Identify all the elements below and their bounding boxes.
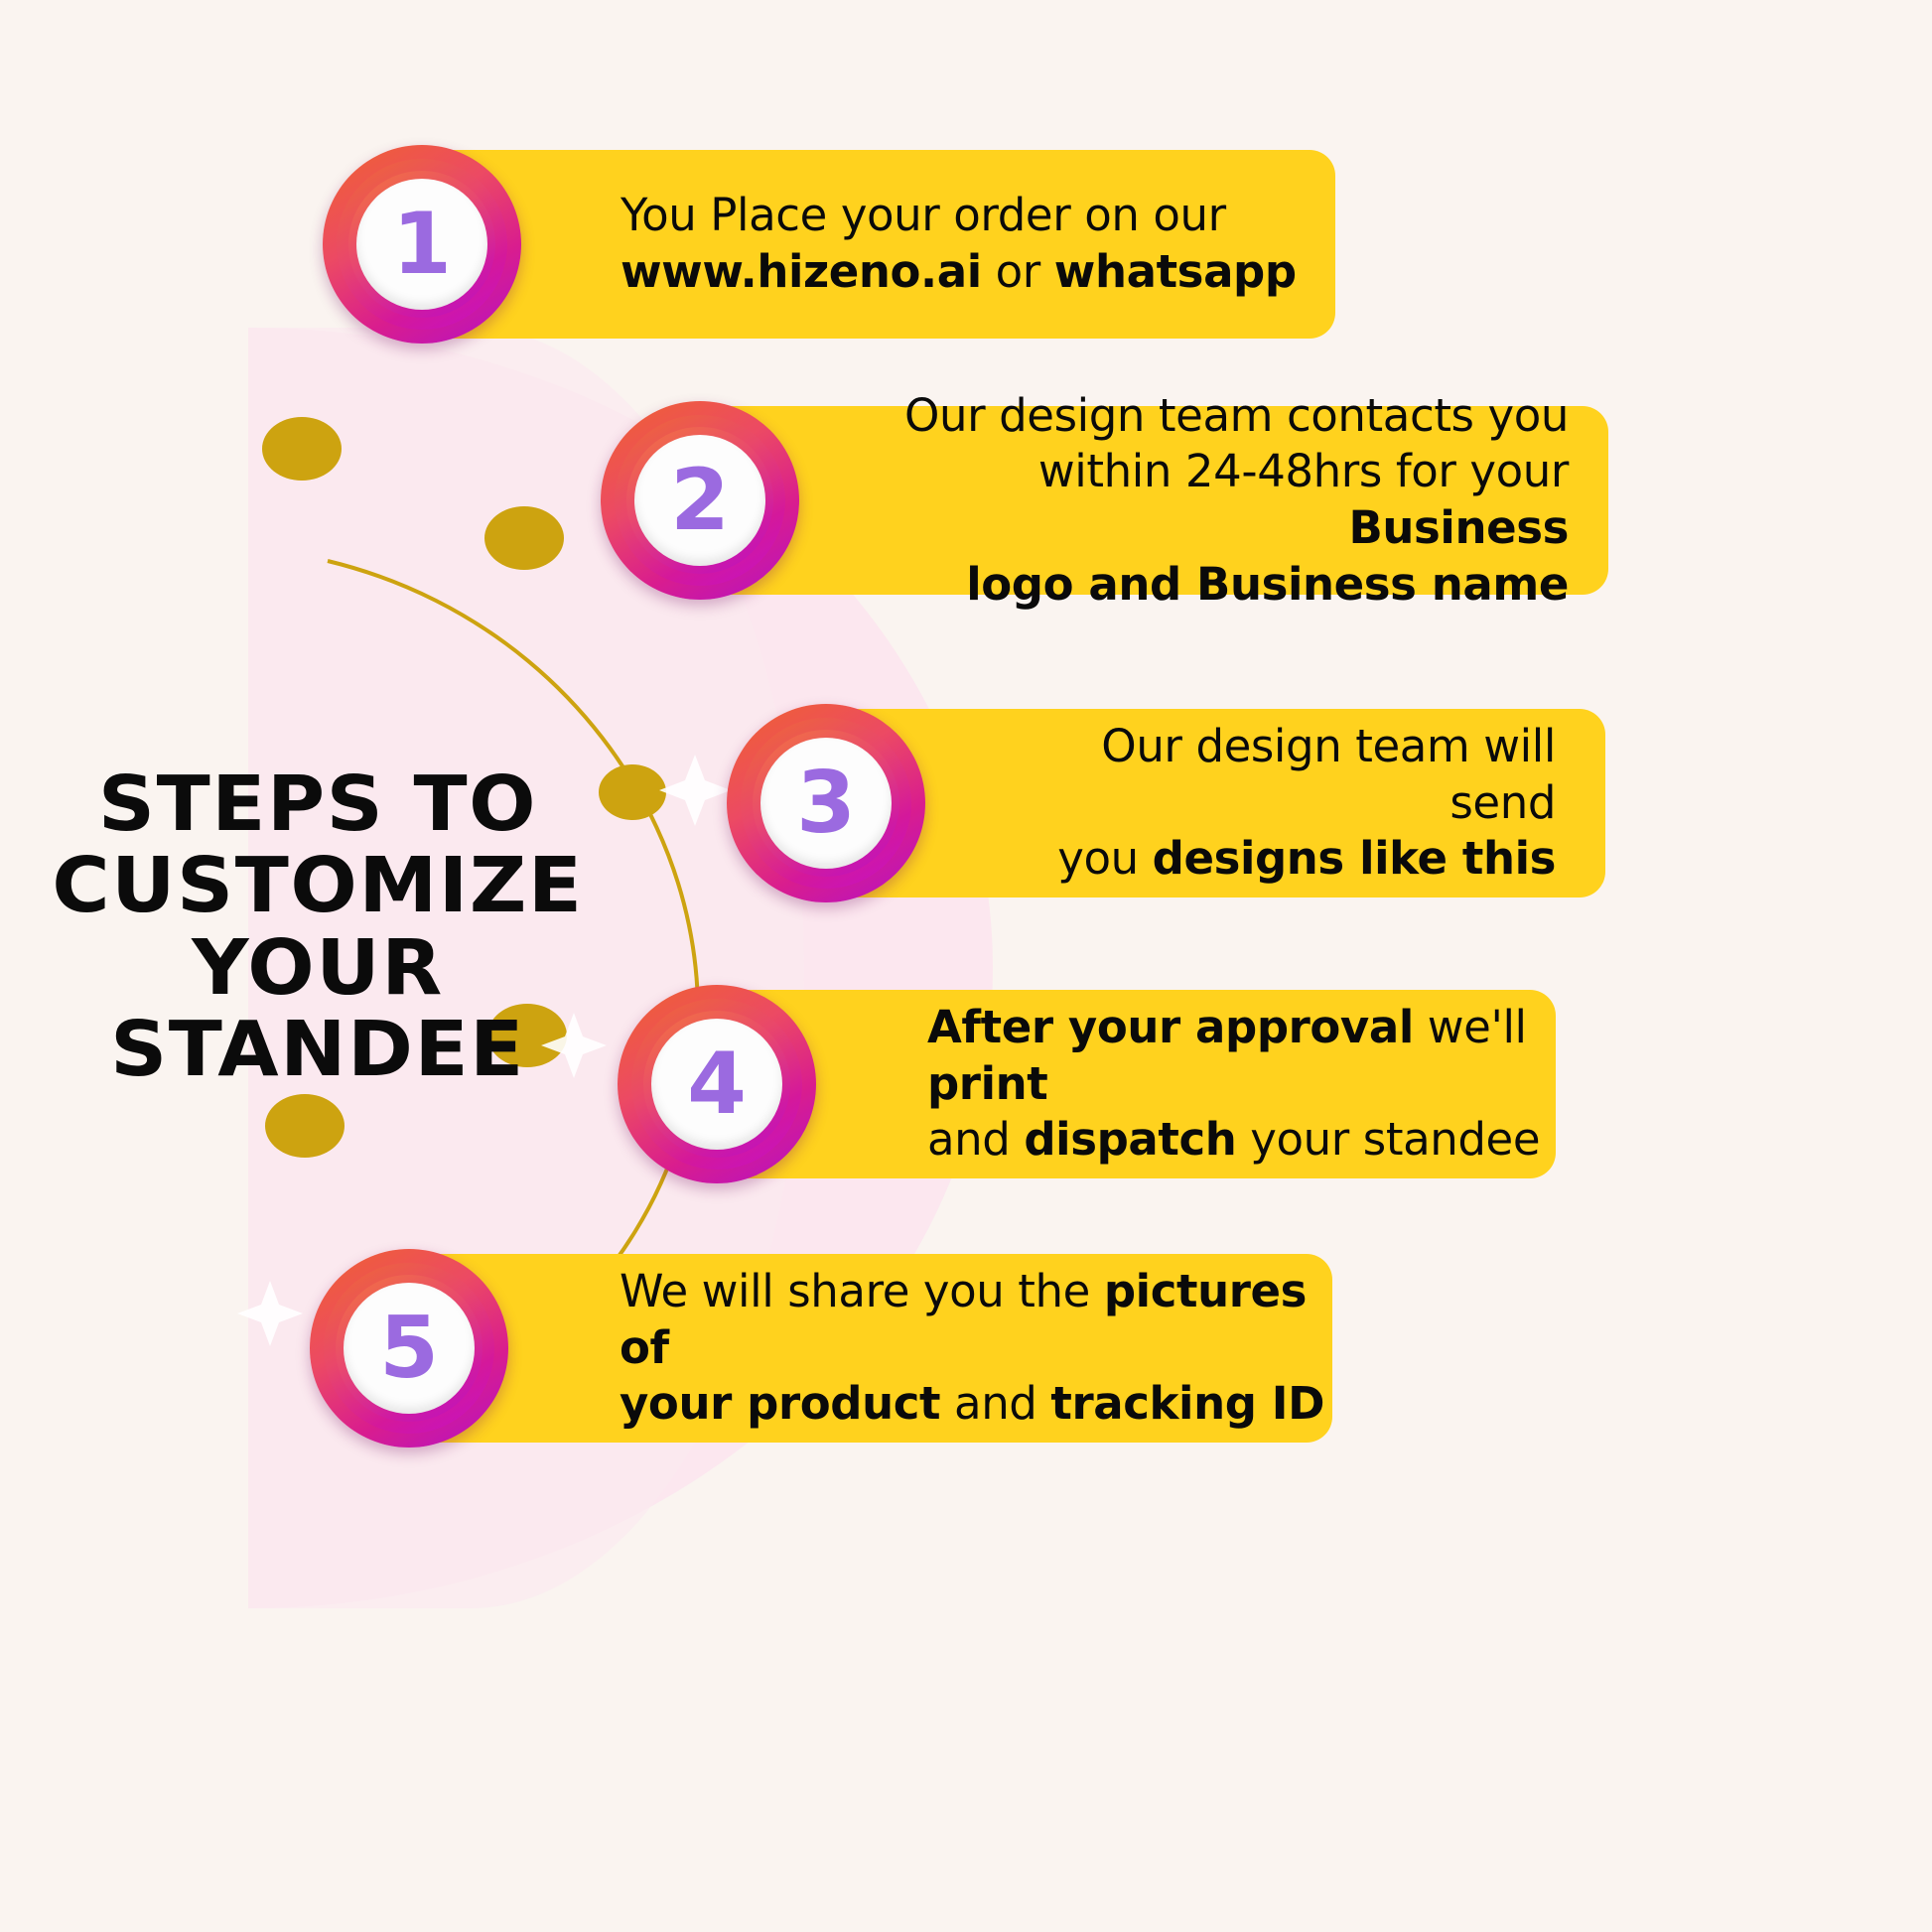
step-badge-1: 1 (323, 145, 521, 344)
page-title: STEPS TO CUSTOMIZE YOUR STANDEE (52, 764, 584, 1092)
step5-bold-tracking: tracking ID (1050, 1377, 1324, 1430)
step4-bold-print: print (927, 1057, 1047, 1110)
step4-bold-dispatch: dispatch (1024, 1113, 1236, 1166)
step1-bold-url: www.hizeno.ai (621, 245, 982, 298)
step-badge-5: 5 (310, 1249, 508, 1448)
step-item-1: 1 You Place your order on our www.hizeno… (323, 145, 1335, 344)
step-number-3: 3 (796, 760, 856, 846)
step-card-2: Our design team contacts you within 24-4… (700, 406, 1608, 595)
step2-bold-logo: logo and Business name (966, 558, 1569, 611)
step-item-4: 4 After your approval we'll print and di… (618, 985, 1556, 1183)
step-item-5: 5 We will share you the pictures of your… (310, 1249, 1332, 1448)
step5-bold-product: your product (620, 1377, 940, 1430)
infographic-canvas: STEPS TO CUSTOMIZE YOUR STANDEE 1 You Pl… (0, 0, 1932, 1932)
step-text-1: You Place your order on our www.hizeno.a… (621, 188, 1297, 300)
badge-disc: 4 (651, 1019, 782, 1150)
step-text-5: We will share you the pictures of your p… (620, 1264, 1332, 1433)
step-badge-4: 4 (618, 985, 816, 1183)
step2-line1: Our design team contacts you (904, 389, 1569, 442)
step1-bold-whatsapp: whatsapp (1054, 245, 1297, 298)
step-badge-3: 3 (727, 704, 925, 902)
step3-bold-designs: designs like this (1153, 832, 1556, 885)
title-line-3: YOUR (52, 928, 584, 1010)
step-card-5: We will share you the pictures of your p… (409, 1254, 1332, 1443)
step-number-4: 4 (687, 1041, 747, 1127)
step5-line1: We will share you the (620, 1265, 1104, 1317)
step-text-2: Our design team contacts you within 24-4… (898, 388, 1569, 614)
step-card-3: Our design team will send you designs li… (826, 709, 1605, 897)
step4-plain-and: and (927, 1113, 1024, 1166)
step-number-1: 1 (392, 202, 452, 287)
step1-line1: You Place your order on our (621, 189, 1226, 241)
step-text-4: After your approval we'll print and disp… (927, 1000, 1556, 1169)
step2-line2: within 24-48hrs for your (1038, 445, 1569, 497)
title-line-1: STEPS TO (52, 764, 584, 846)
step1-or: or (982, 245, 1054, 298)
step-item-2: 2 Our design team contacts you within 24… (601, 401, 1608, 600)
step4-plain-standee: your standee (1236, 1113, 1540, 1166)
badge-disc: 1 (356, 179, 487, 310)
step-number-5: 5 (379, 1306, 439, 1391)
step-card-4: After your approval we'll print and disp… (717, 990, 1556, 1178)
step3-line2: you (1057, 832, 1152, 885)
step4-bold-approval: After your approval (927, 1001, 1414, 1053)
step-text-3: Our design team will send you designs li… (1020, 719, 1556, 888)
step5-plain-and: and (940, 1377, 1050, 1430)
step-item-3: 3 Our design team will send you designs … (727, 704, 1605, 902)
title-line-2: CUSTOMIZE (52, 846, 584, 927)
step3-line1: Our design team will send (1101, 720, 1556, 829)
title-line-4: STANDEE (52, 1010, 584, 1091)
step4-plain-well: we'll (1414, 1001, 1527, 1053)
step2-bold-business: Business (1349, 501, 1569, 554)
badge-disc: 2 (634, 435, 765, 566)
step-number-2: 2 (670, 458, 730, 543)
step-card-1: You Place your order on our www.hizeno.a… (422, 150, 1335, 339)
badge-disc: 5 (344, 1283, 475, 1414)
badge-disc: 3 (760, 738, 892, 869)
step-badge-2: 2 (601, 401, 799, 600)
